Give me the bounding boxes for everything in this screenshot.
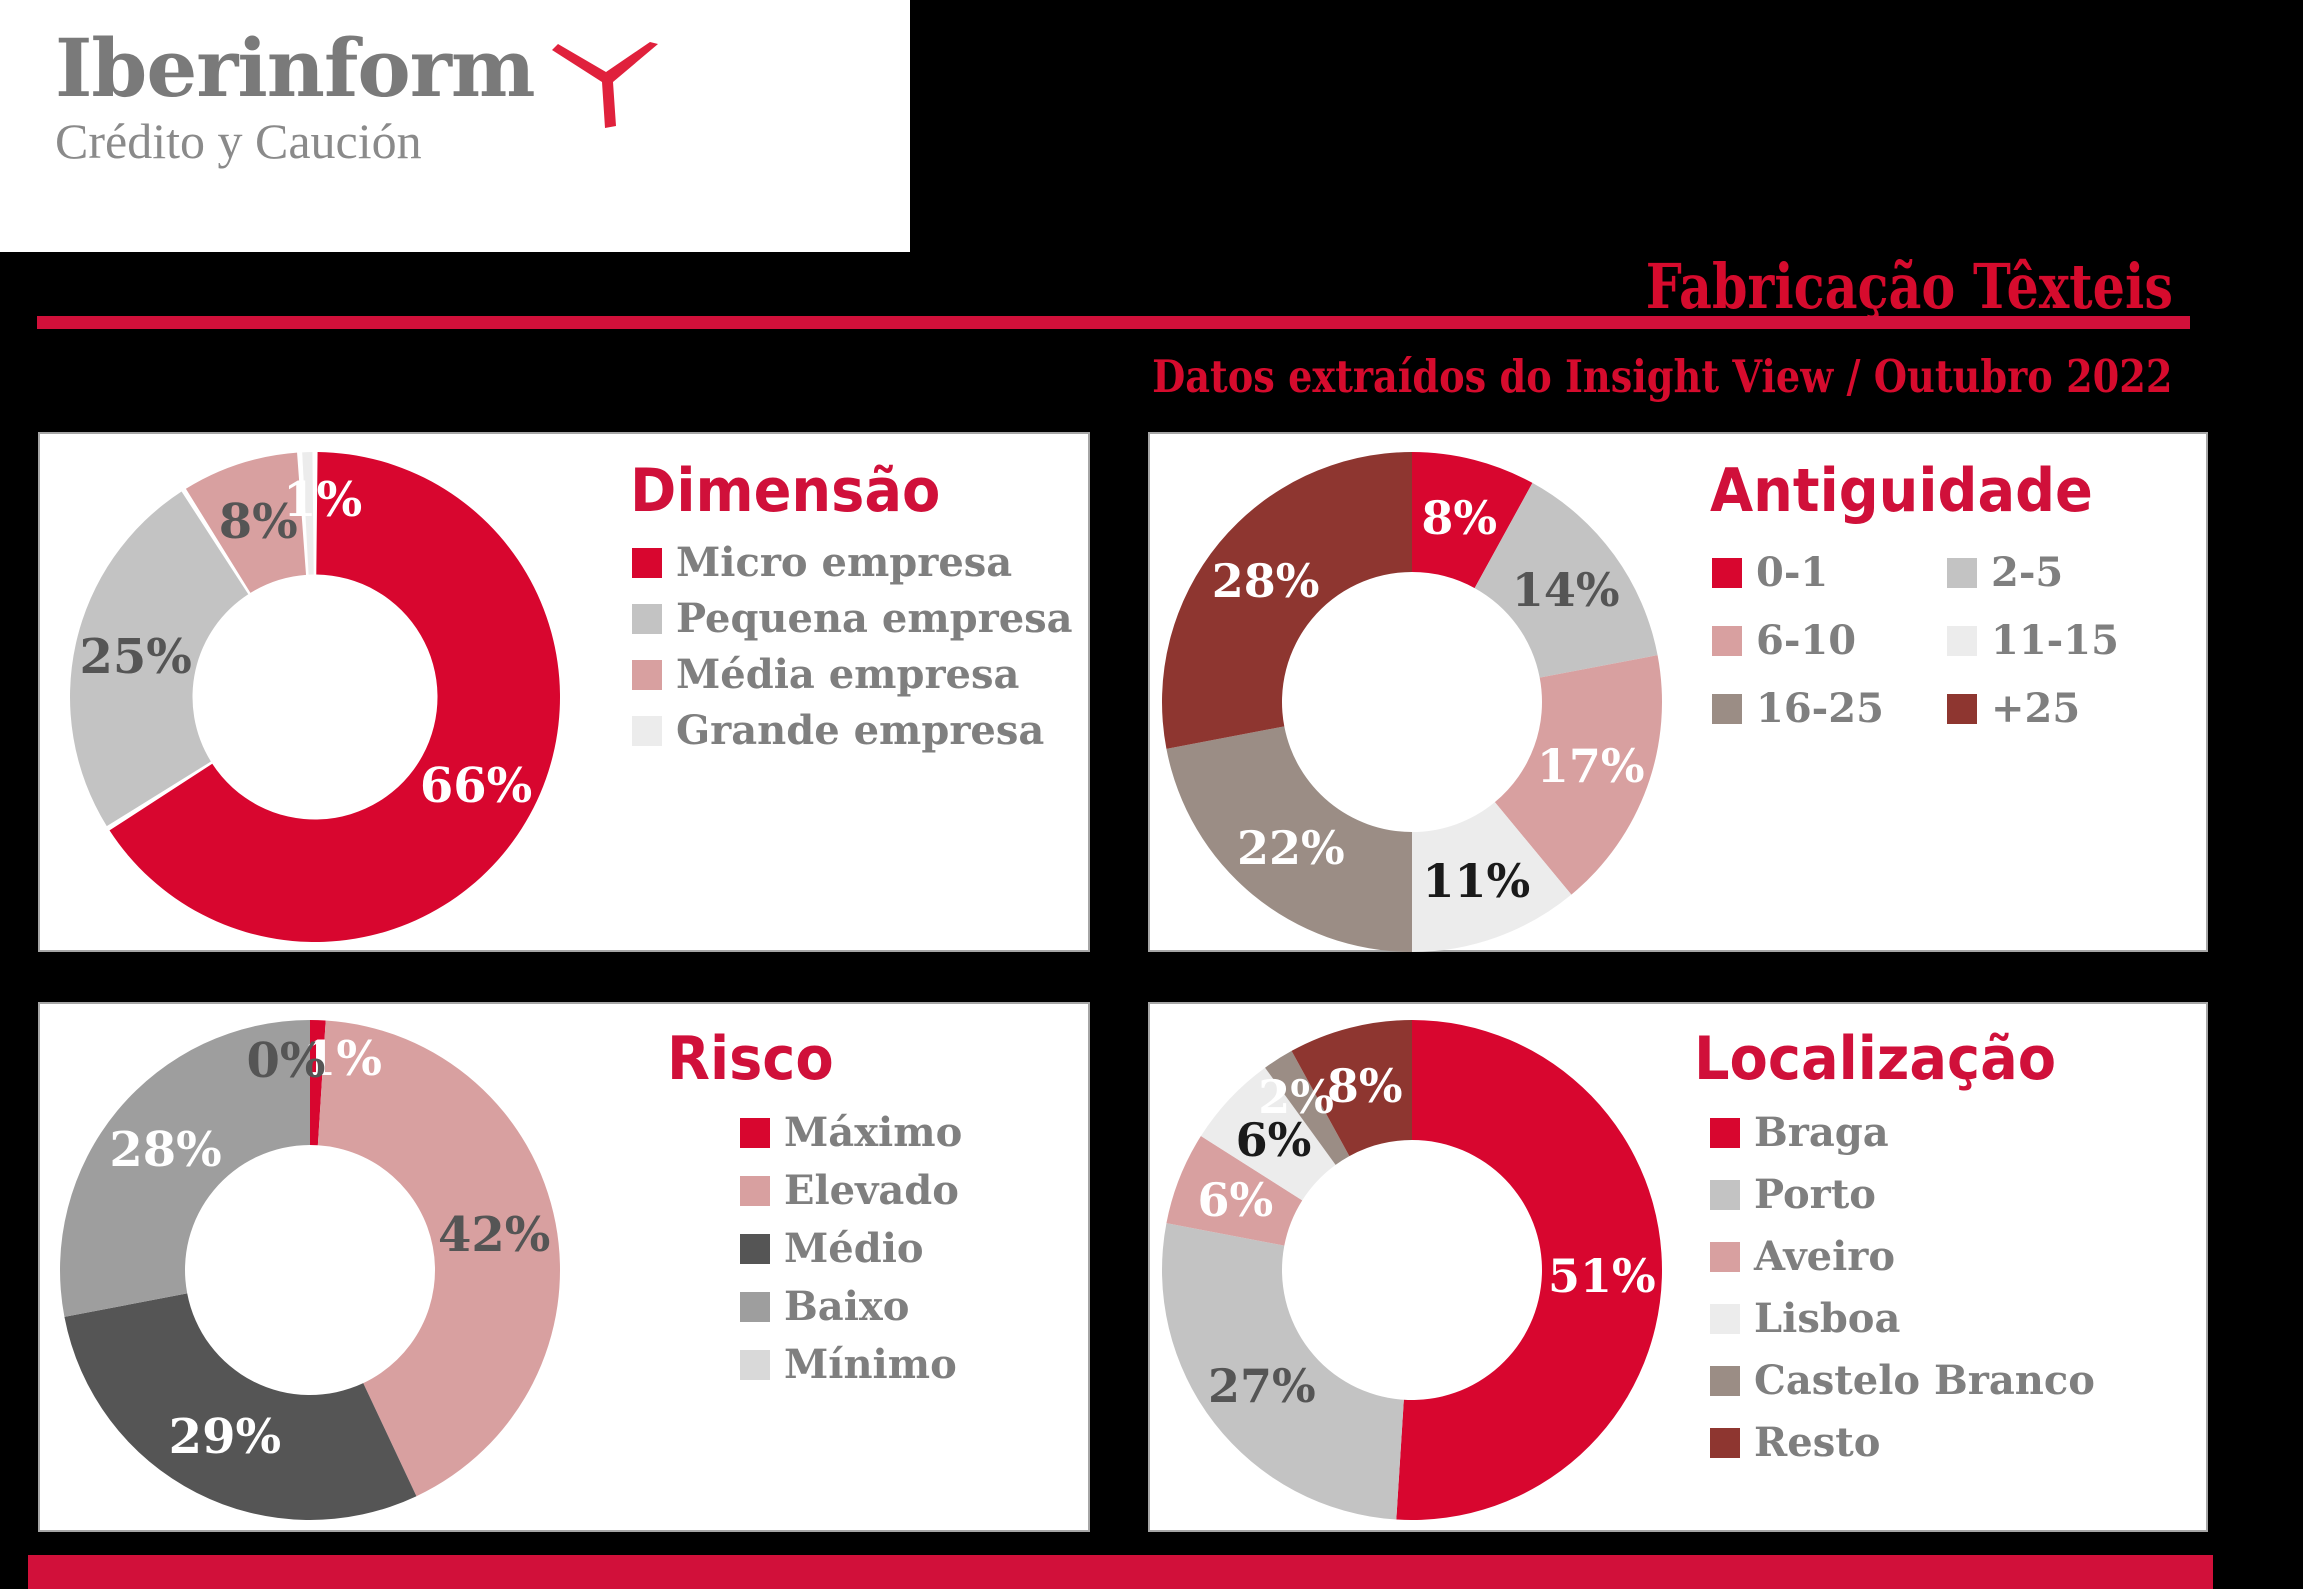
donut-slice-label: 27% bbox=[1208, 1359, 1316, 1413]
legend-item[interactable]: +25 bbox=[1947, 688, 2182, 730]
legend-item-label: Máximo bbox=[784, 1112, 962, 1154]
chart-legend-dimensao: Micro empresaPequena empresaMédia empres… bbox=[632, 542, 1062, 766]
donut-slice-label: 22% bbox=[1237, 821, 1345, 875]
legend-swatch-icon bbox=[1712, 558, 1742, 588]
legend-swatch-icon bbox=[1710, 1428, 1740, 1458]
legend-item[interactable]: Castelo Branco bbox=[1710, 1360, 2180, 1402]
legend-item-label: Média empresa bbox=[676, 654, 1019, 696]
legend-swatch-icon bbox=[1710, 1180, 1740, 1210]
donut-svg bbox=[1162, 452, 1662, 952]
chart-title-risco: Risco bbox=[667, 1024, 834, 1094]
legend-item-label: 6-10 bbox=[1756, 620, 1856, 662]
donut-slice-label: 2% bbox=[1258, 1070, 1334, 1124]
legend-item-label: Mínimo bbox=[784, 1344, 957, 1386]
donut-slice-label: 66% bbox=[420, 758, 532, 814]
donut-chart-antiguidade: 8%14%17%11%22%28% bbox=[1162, 452, 1662, 952]
legend-item-label: 16-25 bbox=[1756, 688, 1884, 730]
donut-slice-label: 29% bbox=[169, 1409, 281, 1465]
legend-item[interactable]: Micro empresa bbox=[632, 542, 1062, 584]
legend-item[interactable]: Médio bbox=[740, 1228, 1080, 1270]
legend-swatch-icon bbox=[740, 1118, 770, 1148]
legend-item-label: Elevado bbox=[784, 1170, 959, 1212]
brand-name: Iberinform bbox=[55, 28, 855, 108]
legend-item-label: Baixo bbox=[784, 1286, 909, 1328]
legend-item-label: Médio bbox=[784, 1228, 924, 1270]
donut-chart-localizacao: 51%27%6%6%2%8% bbox=[1162, 1020, 1662, 1520]
chart-panel-risco: Risco 1%42%29%28%0% MáximoElevadoMédioBa… bbox=[38, 1002, 1090, 1532]
legend-swatch-icon bbox=[632, 548, 662, 578]
legend-item[interactable]: Máximo bbox=[740, 1112, 1080, 1154]
donut-slice-label: 6% bbox=[1197, 1173, 1273, 1227]
legend-item-label: Grande empresa bbox=[676, 710, 1044, 752]
donut-slice-label: 17% bbox=[1537, 739, 1645, 793]
legend-swatch-icon bbox=[740, 1176, 770, 1206]
legend-item[interactable]: 6-10 bbox=[1712, 620, 1947, 662]
page-title: Fabricação Têxteis bbox=[1646, 250, 2173, 323]
legend-swatch-icon bbox=[632, 604, 662, 634]
chart-legend-localizacao: BragaPortoAveiroLisboaCastelo BrancoRest… bbox=[1710, 1112, 2180, 1484]
chart-panel-localizacao: Localização 51%27%6%6%2%8% BragaPortoAve… bbox=[1148, 1002, 2208, 1532]
legend-swatch-icon bbox=[1710, 1242, 1740, 1272]
donut-slice-label: 25% bbox=[79, 629, 191, 685]
page-subtitle: Datos extraídos do Insight View / Outubr… bbox=[1153, 350, 2173, 403]
legend-item[interactable]: Pequena empresa bbox=[632, 598, 1062, 640]
legend-item[interactable]: 16-25 bbox=[1712, 688, 1947, 730]
chart-legend-antiguidade: 0-12-56-1011-1516-25+25 bbox=[1712, 552, 2182, 756]
chart-legend-risco: MáximoElevadoMédioBaixoMínimo bbox=[740, 1112, 1080, 1402]
legend-item[interactable]: Lisboa bbox=[1710, 1298, 2180, 1340]
donut-slice-label: 42% bbox=[438, 1207, 550, 1263]
donut-svg bbox=[60, 1020, 560, 1520]
donut-slice-label: 8% bbox=[1421, 491, 1497, 545]
legend-item[interactable]: 0-1 bbox=[1712, 552, 1947, 594]
legend-swatch-icon bbox=[632, 660, 662, 690]
footer-bar bbox=[28, 1555, 2213, 1589]
legend-swatch-icon bbox=[1712, 626, 1742, 656]
chart-title-localizacao: Localização bbox=[1694, 1024, 2056, 1094]
iberinform-tick-icon bbox=[550, 42, 660, 132]
legend-item-label: Pequena empresa bbox=[676, 598, 1073, 640]
legend-item[interactable]: Braga bbox=[1710, 1112, 2180, 1154]
legend-item[interactable]: Aveiro bbox=[1710, 1236, 2180, 1278]
legend-swatch-icon bbox=[1710, 1366, 1740, 1396]
legend-item-label: Braga bbox=[1754, 1112, 1889, 1154]
donut-slice-label: 8% bbox=[1327, 1059, 1403, 1113]
donut-slice-label: 11% bbox=[1422, 854, 1530, 908]
brand-tagline: Crédito y Caución bbox=[55, 116, 855, 166]
legend-swatch-icon bbox=[1710, 1118, 1740, 1148]
donut-slice-label: 28% bbox=[109, 1122, 221, 1178]
donut-slice-label: 28% bbox=[1212, 554, 1320, 608]
legend-item[interactable]: Porto bbox=[1710, 1174, 2180, 1216]
brand-logo: Iberinform Crédito y Caución bbox=[0, 0, 910, 252]
donut-chart-risco: 1%42%29%28%0% bbox=[60, 1020, 560, 1520]
legend-swatch-icon bbox=[632, 716, 662, 746]
legend-swatch-icon bbox=[1712, 694, 1742, 724]
legend-item-label: Porto bbox=[1754, 1174, 1876, 1216]
legend-item[interactable]: Mínimo bbox=[740, 1344, 1080, 1386]
legend-item[interactable]: Resto bbox=[1710, 1422, 2180, 1464]
title-divider bbox=[37, 316, 2190, 329]
legend-item[interactable]: Média empresa bbox=[632, 654, 1062, 696]
legend-item-label: Lisboa bbox=[1754, 1298, 1900, 1340]
legend-item-label: Aveiro bbox=[1754, 1236, 1895, 1278]
chart-panel-dimensao: Dimensão 66%25%8%1% Micro empresaPequena… bbox=[38, 432, 1090, 952]
legend-item[interactable]: 2-5 bbox=[1947, 552, 2182, 594]
legend-item-label: +25 bbox=[1991, 688, 2080, 730]
legend-item-label: 11-15 bbox=[1991, 620, 2119, 662]
legend-swatch-icon bbox=[740, 1234, 770, 1264]
legend-item-label: Castelo Branco bbox=[1754, 1360, 2095, 1402]
legend-item[interactable]: Elevado bbox=[740, 1170, 1080, 1212]
legend-swatch-icon bbox=[1710, 1304, 1740, 1334]
legend-item-label: Resto bbox=[1754, 1422, 1880, 1464]
legend-item[interactable]: 11-15 bbox=[1947, 620, 2182, 662]
legend-item-label: 2-5 bbox=[1991, 552, 2063, 594]
legend-item-label: Micro empresa bbox=[676, 542, 1012, 584]
chart-panel-antiguidade: Antiguidade 8%14%17%11%22%28% 0-12-56-10… bbox=[1148, 432, 2208, 952]
donut-slice bbox=[64, 1293, 416, 1520]
legend-item-label: 0-1 bbox=[1756, 552, 1828, 594]
legend-swatch-icon bbox=[1947, 626, 1977, 656]
legend-item[interactable]: Baixo bbox=[740, 1286, 1080, 1328]
legend-swatch-icon bbox=[740, 1350, 770, 1380]
donut-chart-dimensao: 66%25%8%1% bbox=[70, 452, 560, 942]
donut-slice-label: 0% bbox=[246, 1033, 325, 1089]
legend-swatch-icon bbox=[740, 1292, 770, 1322]
donut-slice-label: 51% bbox=[1548, 1249, 1656, 1303]
donut-slice-label: 14% bbox=[1512, 563, 1620, 617]
legend-swatch-icon bbox=[1947, 558, 1977, 588]
chart-title-dimensao: Dimensão bbox=[630, 456, 940, 526]
donut-slice-label: 1% bbox=[283, 472, 362, 528]
legend-swatch-icon bbox=[1947, 694, 1977, 724]
chart-title-antiguidade: Antiguidade bbox=[1710, 456, 2093, 526]
legend-item[interactable]: Grande empresa bbox=[632, 710, 1062, 752]
